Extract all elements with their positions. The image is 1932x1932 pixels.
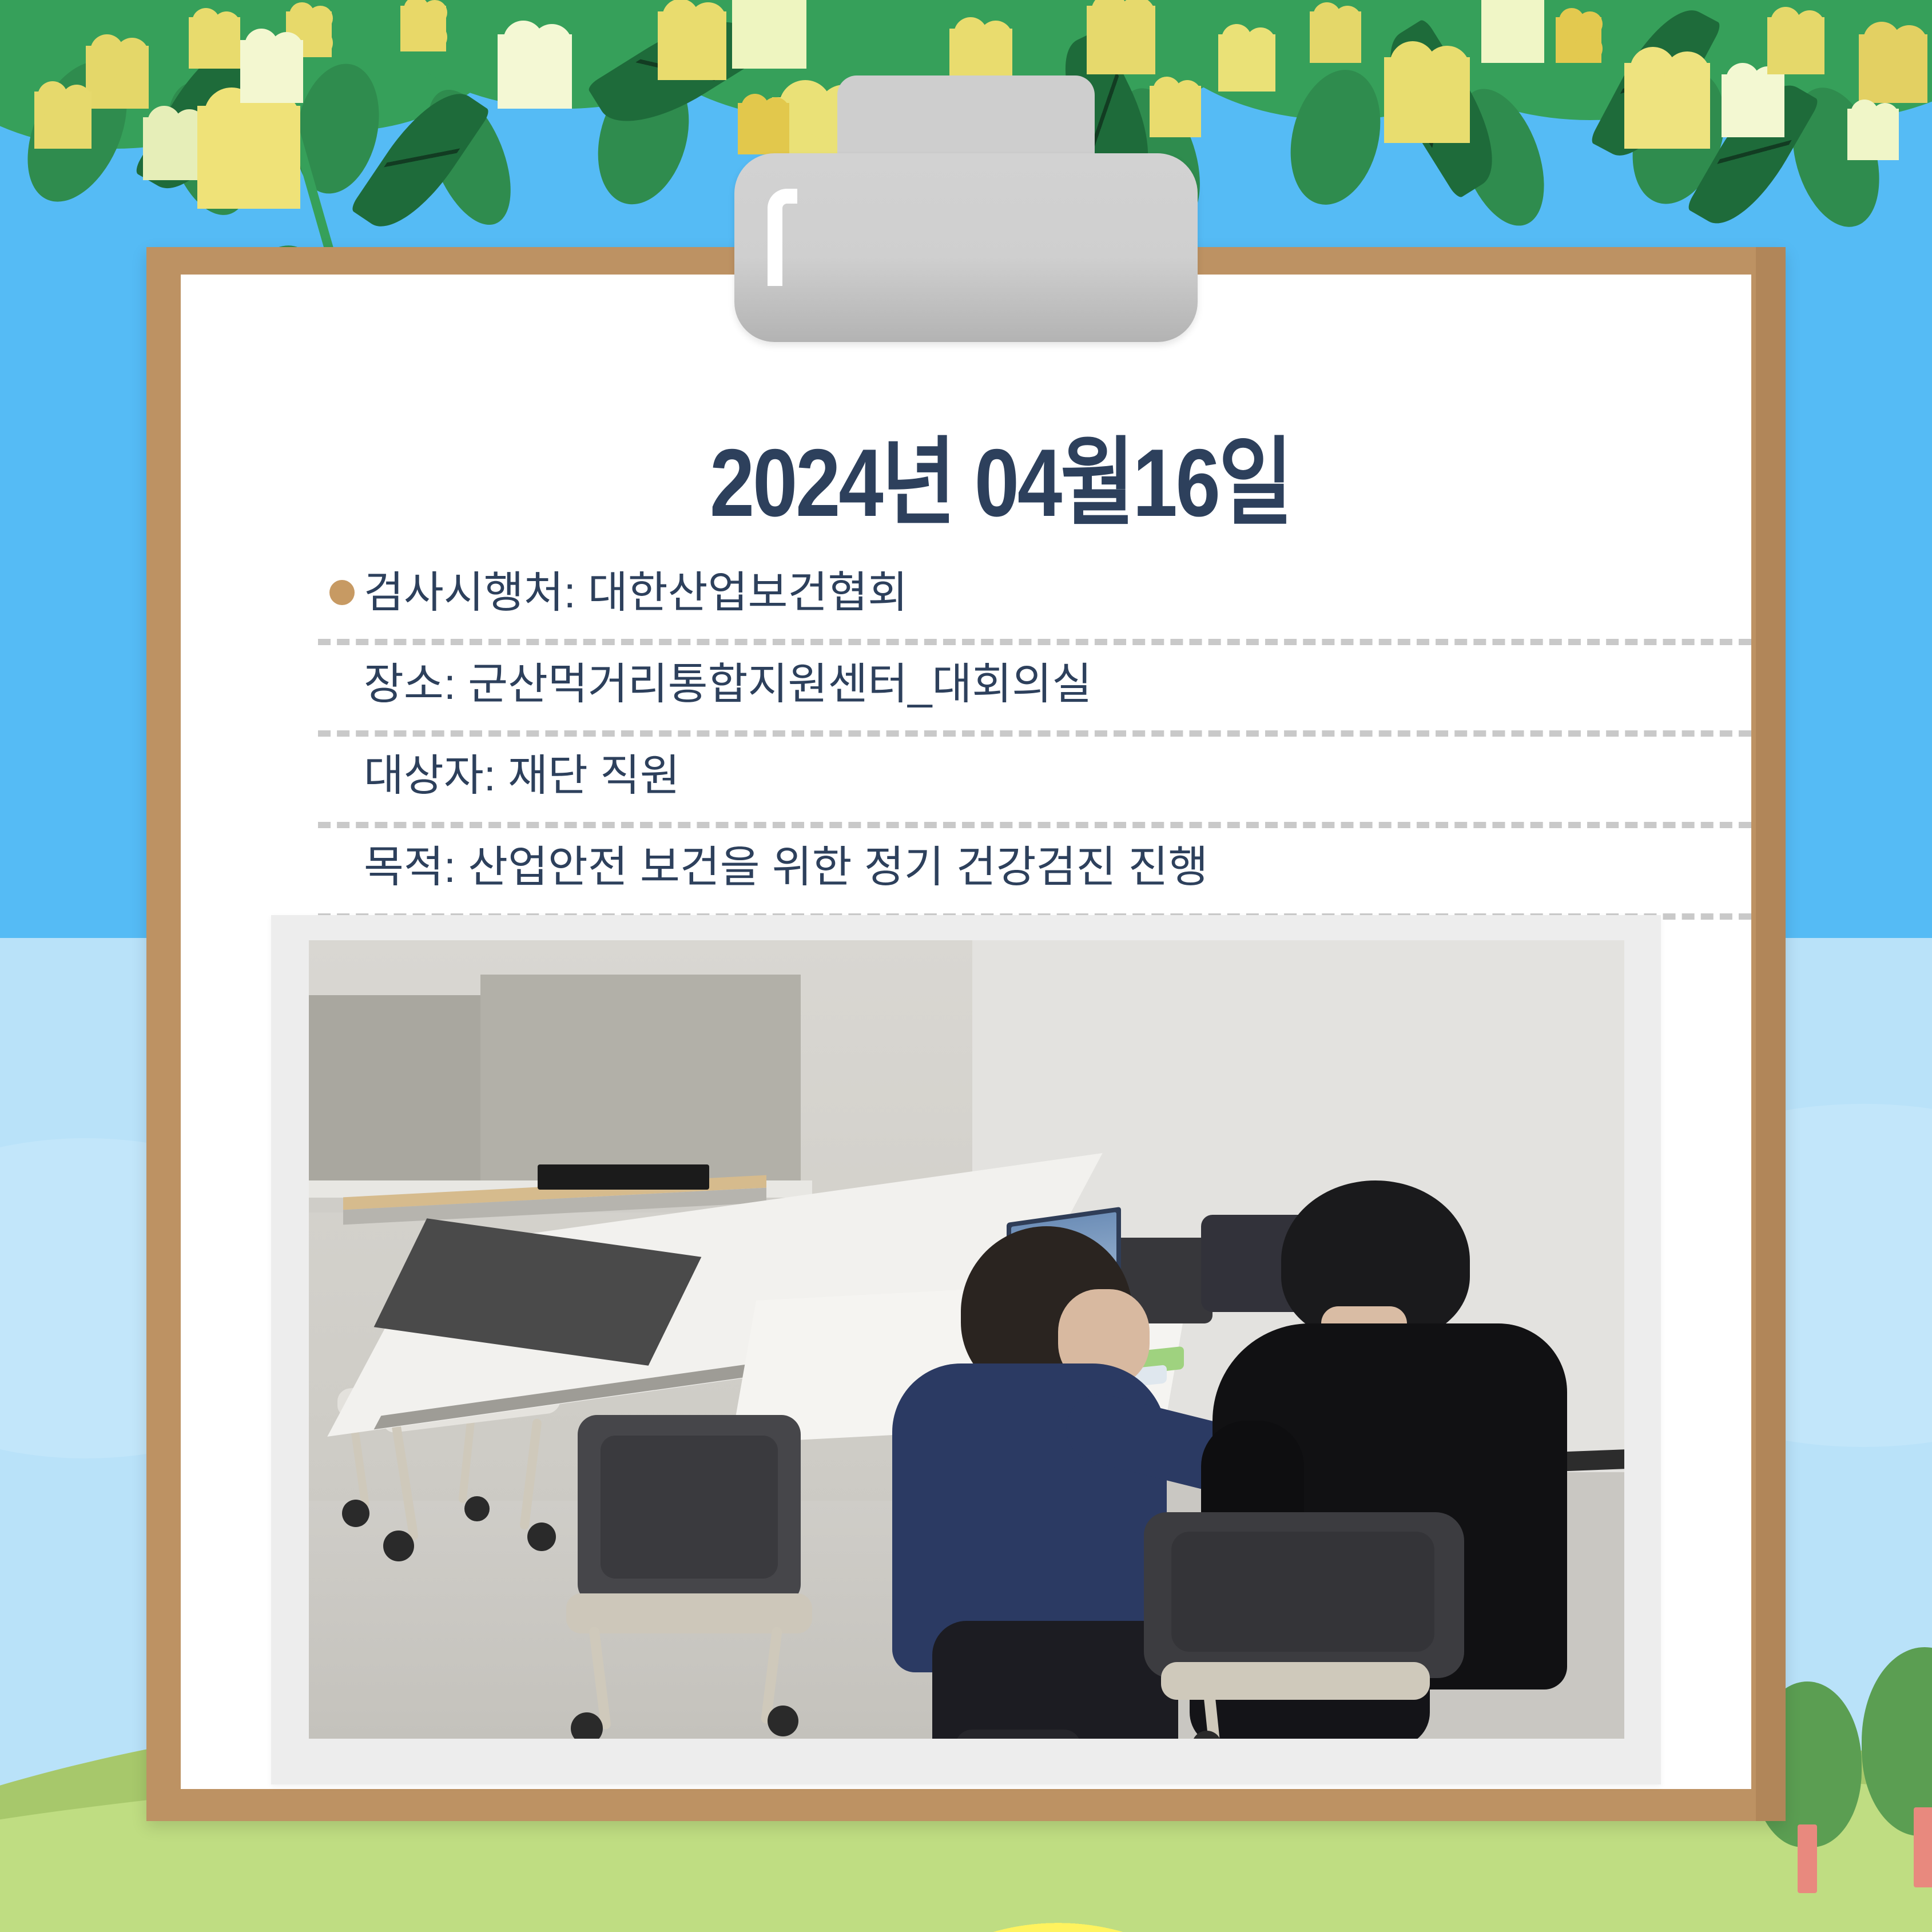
photo-chair — [1144, 1512, 1498, 1739]
flower-icon — [86, 46, 149, 109]
flower-icon — [1310, 11, 1361, 63]
photo-monitor — [538, 1164, 709, 1190]
chair-leg — [519, 1418, 542, 1530]
chair-seat — [1161, 1662, 1430, 1700]
flower-icon — [197, 106, 300, 209]
clipboard-edge-shadow — [1756, 247, 1786, 1821]
person-legs — [932, 1621, 1178, 1739]
flower-icon — [400, 6, 446, 51]
poster-canvas: 2024년 04월16일 검사시행처: 대한산업보건협회 장소: 군산먹거리통합… — [0, 0, 1932, 1932]
photo-chair — [555, 1415, 852, 1735]
flower-icon — [1767, 17, 1824, 74]
flower-icon — [1384, 57, 1470, 143]
flower-icon — [732, 0, 806, 69]
flower-icon — [1859, 34, 1927, 103]
flower-icon — [1847, 109, 1899, 160]
flower-icon — [1556, 17, 1601, 63]
flower-icon — [1624, 63, 1710, 149]
flower-icon — [143, 117, 206, 180]
clip-highlight — [768, 189, 797, 286]
chair-wheel — [768, 1706, 798, 1736]
flower-icon — [498, 34, 572, 109]
flower-icon — [240, 40, 303, 103]
chair-wheel — [383, 1531, 414, 1561]
flower-icon — [1722, 74, 1784, 137]
flower-icon — [738, 103, 789, 154]
flower-icon — [658, 11, 726, 80]
meeting-room-photo — [309, 940, 1624, 1739]
flower-icon — [1218, 34, 1275, 92]
flower-icon — [1150, 86, 1201, 137]
chair-wheel — [527, 1522, 556, 1551]
tree-trunk — [1914, 1807, 1932, 1887]
photo-frame — [271, 915, 1661, 1784]
chair-wheel — [571, 1712, 603, 1739]
flower-icon — [1481, 0, 1544, 63]
chair-back-inner — [601, 1436, 778, 1579]
flower-icon — [1087, 6, 1155, 74]
path-curve-inner — [801, 1819, 1315, 1932]
tree-icon — [1859, 1647, 1932, 1910]
chair-back-inner — [1171, 1532, 1434, 1652]
flower-icon — [34, 92, 92, 149]
tree-trunk — [1798, 1824, 1817, 1893]
person-shoe — [955, 1730, 1081, 1739]
clipboard-clip — [734, 153, 1198, 342]
flower-icon — [189, 17, 240, 69]
chair-leg — [391, 1421, 419, 1541]
photo-window-blind — [309, 995, 480, 1184]
chair-wheel — [342, 1500, 369, 1527]
